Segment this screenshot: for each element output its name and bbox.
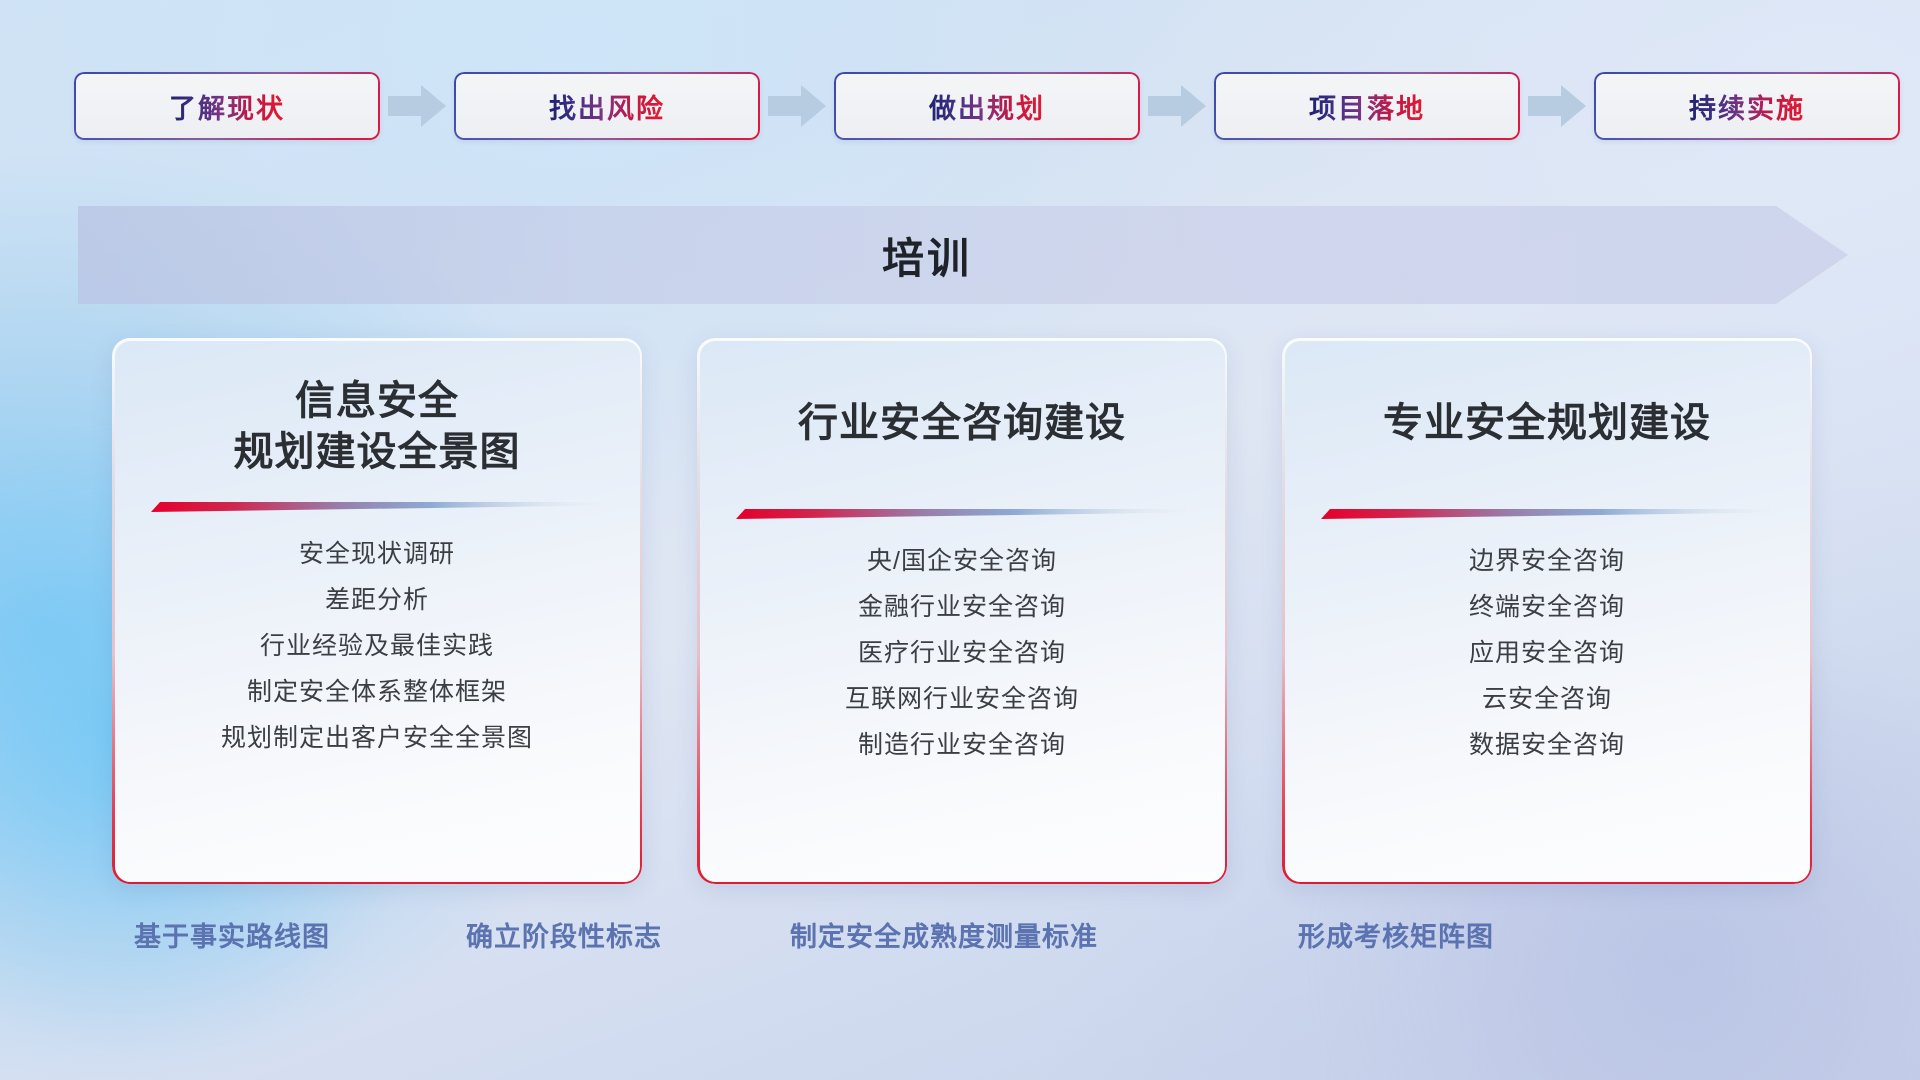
capability-card-3-list: 边界安全咨询 终端安全咨询 应用安全咨询 云安全咨询 数据安全咨询 — [1469, 546, 1625, 760]
list-item: 应用安全咨询 — [1469, 638, 1625, 668]
list-item: 央/国企安全咨询 — [867, 546, 1057, 576]
footer-label-row: 基于事实路线图 确立阶段性标志 制定安全成熟度测量标准 形成考核矩阵图 — [0, 915, 1920, 965]
slide-canvas: 了解现状 找出风险 做出规划 项目落地 — [0, 0, 1920, 1080]
card-1-accent-divider — [151, 500, 603, 513]
capability-card-3-title: 专业安全规划建设 — [1357, 398, 1737, 449]
capability-card-1[interactable]: 信息安全 规划建设全景图 — [112, 338, 642, 884]
footer-label-2: 确立阶段性标志 — [466, 915, 662, 954]
card-3-accent-divider — [1321, 507, 1773, 520]
capability-card-3[interactable]: 专业安全规划建设 — [1282, 338, 1812, 884]
footer-label-3: 制定安全成熟度测量标准 — [790, 915, 1098, 954]
capability-card-1-title-line2: 规划建设全景图 — [234, 427, 521, 478]
training-banner-title: 培训 — [78, 206, 1848, 304]
step-box-4[interactable]: 项目落地 — [1214, 72, 1520, 140]
step-arrow-icon-1 — [387, 84, 447, 128]
list-item: 制造行业安全咨询 — [858, 730, 1066, 760]
footer-label-1: 基于事实路线图 — [134, 915, 330, 954]
step-box-1[interactable]: 了解现状 — [74, 72, 380, 140]
step-box-2[interactable]: 找出风险 — [454, 72, 760, 140]
list-item: 差距分析 — [325, 585, 429, 615]
list-item: 互联网行业安全咨询 — [845, 684, 1079, 714]
step-arrow-icon-2 — [767, 84, 827, 128]
capability-card-row: 信息安全 规划建设全景图 — [112, 338, 1812, 884]
step-label-1: 了解现状 — [169, 87, 285, 126]
step-label-3: 做出规划 — [929, 87, 1045, 126]
step-box-5[interactable]: 持续实施 — [1594, 72, 1900, 140]
list-item: 终端安全咨询 — [1469, 592, 1625, 622]
list-item: 云安全咨询 — [1482, 684, 1612, 714]
list-item: 金融行业安全咨询 — [858, 592, 1066, 622]
step-arrow-icon-4 — [1527, 84, 1587, 128]
list-item: 边界安全咨询 — [1469, 546, 1625, 576]
list-item: 规划制定出客户安全全景图 — [221, 723, 533, 753]
capability-card-2[interactable]: 行业安全咨询建设 — [697, 338, 1227, 884]
capability-card-1-title-line1: 信息安全 — [234, 376, 521, 427]
footer-label-4: 形成考核矩阵图 — [1298, 915, 1494, 954]
step-label-2: 找出风险 — [549, 87, 665, 126]
list-item: 安全现状调研 — [299, 539, 455, 569]
step-box-3[interactable]: 做出规划 — [834, 72, 1140, 140]
list-item: 数据安全咨询 — [1469, 730, 1625, 760]
capability-card-1-list: 安全现状调研 差距分析 行业经验及最佳实践 制定安全体系整体框架 规划制定出客户… — [221, 539, 533, 753]
list-item: 医疗行业安全咨询 — [858, 638, 1066, 668]
capability-card-1-title: 信息安全 规划建设全景图 — [208, 376, 547, 478]
training-banner: 培训 — [78, 206, 1848, 304]
card-2-accent-divider — [736, 507, 1188, 520]
list-item: 制定安全体系整体框架 — [247, 677, 507, 707]
capability-card-2-title: 行业安全咨询建设 — [772, 398, 1152, 449]
process-step-row: 了解现状 找出风险 做出规划 项目落地 — [74, 72, 1846, 140]
step-arrow-icon-3 — [1147, 84, 1207, 128]
list-item: 行业经验及最佳实践 — [260, 631, 494, 661]
capability-card-2-list: 央/国企安全咨询 金融行业安全咨询 医疗行业安全咨询 互联网行业安全咨询 制造行… — [845, 546, 1079, 760]
step-label-4: 项目落地 — [1309, 87, 1425, 126]
step-label-5: 持续实施 — [1689, 87, 1805, 126]
